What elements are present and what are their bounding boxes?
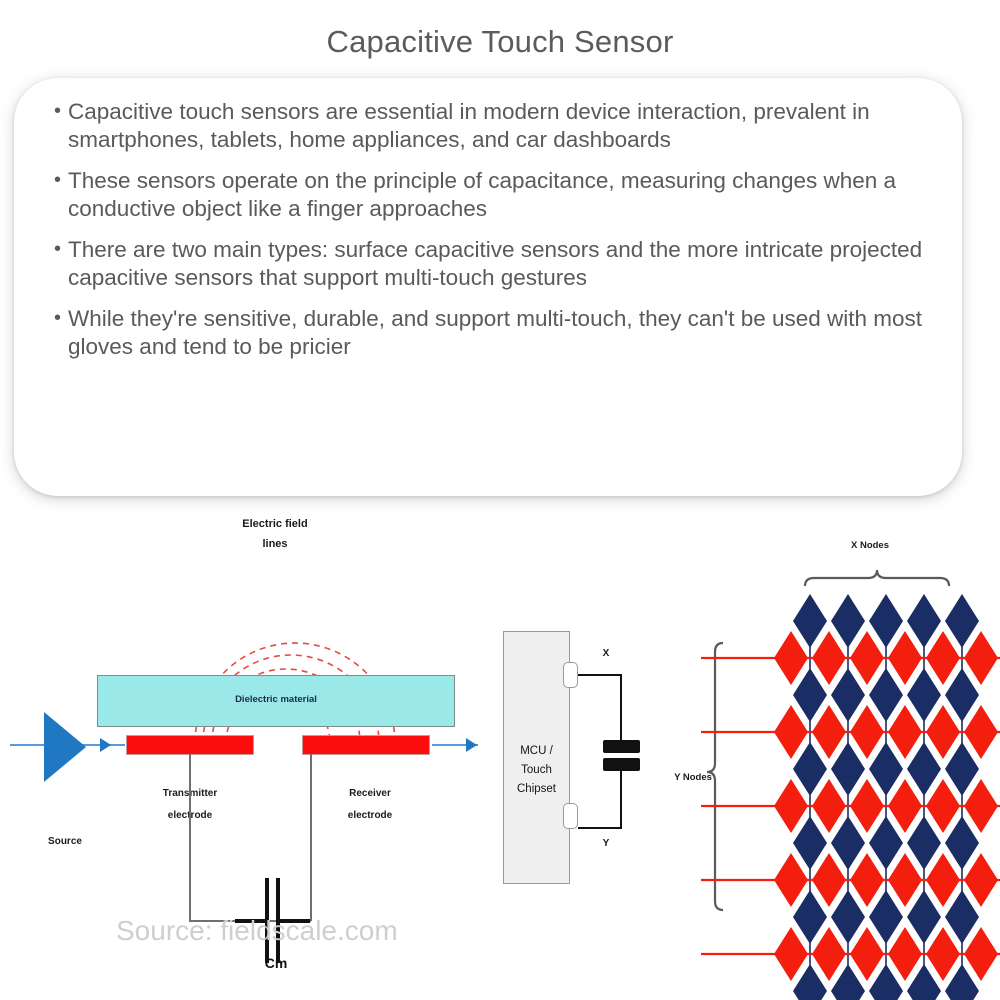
x-node-diamond xyxy=(831,816,865,870)
list-item: • Capacitive touch sensors are essential… xyxy=(54,98,992,153)
pin-y-terminal xyxy=(563,803,578,829)
mcu-label-line3: Chipset xyxy=(517,783,556,795)
y-node-diamond xyxy=(888,927,922,981)
y-node-diamond xyxy=(812,853,846,907)
bullet-text: There are two main types: surface capaci… xyxy=(68,236,973,291)
x-node-diamond xyxy=(907,816,941,870)
x-node-diamond xyxy=(831,742,865,796)
x-node-diamond xyxy=(907,668,941,722)
y-node-diamond xyxy=(850,631,884,685)
receiver-electrode-label: Receiver electrode xyxy=(315,783,425,827)
y-node-diamond xyxy=(926,779,960,833)
y-node-diamond xyxy=(888,779,922,833)
y-node-diamond xyxy=(812,927,846,981)
source-label: Source xyxy=(25,836,105,847)
y-node-diamond xyxy=(964,853,998,907)
mcu-touch-chipset-label: MCU / Touch Chipset xyxy=(503,742,570,799)
y-node-diamond xyxy=(774,853,808,907)
x-node-diamond xyxy=(869,742,903,796)
y-node-diamond xyxy=(774,779,808,833)
y-node-diamond xyxy=(812,705,846,759)
y-pin-label: Y xyxy=(591,838,621,849)
x-node-diamond xyxy=(793,668,827,722)
x-node-diamond xyxy=(831,668,865,722)
sensor-diagram: Electric field lines Dielectric material xyxy=(0,500,1000,1000)
x-node-diamond xyxy=(945,742,979,796)
receiver-label-line1: Receiver xyxy=(349,788,391,799)
pin-x-terminal xyxy=(563,662,578,688)
y-node-diamond xyxy=(888,705,922,759)
y-node-diamond xyxy=(964,927,998,981)
x-node-diamond xyxy=(793,594,827,648)
source-triangle-icon xyxy=(44,712,86,782)
arrow-right-icon xyxy=(466,738,477,752)
bullet-marker-icon: • xyxy=(54,236,61,263)
transmitter-electrode xyxy=(126,735,254,755)
bullet-text: These sensors operate on the principle o… xyxy=(68,167,973,222)
summary-card: • Capacitive touch sensors are essential… xyxy=(14,78,962,496)
wire-x-horizontal xyxy=(578,674,622,676)
x-node-diamond xyxy=(869,594,903,648)
capacitor-lead-right xyxy=(310,754,312,921)
receiver-label-line2: electrode xyxy=(348,810,392,821)
list-item: • While they're sensitive, durable, and … xyxy=(54,305,992,360)
y-node-diamond xyxy=(850,927,884,981)
wire-y-horizontal xyxy=(578,827,622,829)
bullet-marker-icon: • xyxy=(54,98,61,125)
page-root: Capacitive Touch Sensor • Capacitive tou… xyxy=(0,0,1000,1000)
x-node-diamond xyxy=(945,594,979,648)
mcu-capacitor-plate-top-icon xyxy=(603,740,640,753)
bullet-marker-icon: • xyxy=(54,167,61,194)
x-pin-label: X xyxy=(591,648,621,659)
mcu-label-line1: MCU / xyxy=(520,745,553,757)
list-item: • These sensors operate on the principle… xyxy=(54,167,992,222)
bullet-text: While they're sensitive, durable, and su… xyxy=(68,305,973,360)
x-node-diamond xyxy=(831,594,865,648)
wire-x-vertical xyxy=(620,674,622,746)
mcu-label-line2: Touch xyxy=(521,764,552,776)
y-node-diamond xyxy=(926,631,960,685)
y-node-diamond xyxy=(926,927,960,981)
bullet-list: • Capacitive touch sensors are essential… xyxy=(54,98,992,374)
x-node-diamond xyxy=(945,890,979,944)
x-node-diamond xyxy=(831,890,865,944)
source-watermark: Source: fieldscale.com xyxy=(116,915,386,947)
dielectric-material-label: Dielectric material xyxy=(97,694,455,705)
mcu-capacitor-plate-bottom-icon xyxy=(603,758,640,771)
mutual-capacitance-label: Cm xyxy=(236,955,316,971)
x-node-diamond xyxy=(907,742,941,796)
x-node-diamond xyxy=(869,890,903,944)
x-node-diamond xyxy=(869,816,903,870)
y-node-diamond xyxy=(888,631,922,685)
x-node-diamond xyxy=(793,816,827,870)
x-node-diamond xyxy=(907,594,941,648)
y-node-diamond xyxy=(774,631,808,685)
node-grid-group xyxy=(701,594,1000,1000)
y-node-diamond xyxy=(964,631,998,685)
y-node-diamond xyxy=(888,853,922,907)
x-node-diamond xyxy=(793,742,827,796)
y-node-diamond xyxy=(964,779,998,833)
y-node-diamond xyxy=(850,853,884,907)
capacitor-lead-left xyxy=(189,754,191,921)
y-node-diamond xyxy=(774,705,808,759)
y-node-diamond xyxy=(850,779,884,833)
bullet-marker-icon: • xyxy=(54,305,61,332)
bullet-text: Capacitive touch sensors are essential i… xyxy=(68,98,973,153)
node-grid-svg xyxy=(700,500,1000,1000)
x-node-diamond xyxy=(945,668,979,722)
arrow-right-icon xyxy=(100,738,111,752)
wire-y-vertical xyxy=(620,768,622,829)
page-title: Capacitive Touch Sensor xyxy=(0,24,1000,60)
y-node-diamond xyxy=(964,705,998,759)
y-node-diamond xyxy=(774,927,808,981)
list-item: • There are two main types: surface capa… xyxy=(54,236,992,291)
y-node-diamond xyxy=(926,705,960,759)
y-node-diamond xyxy=(812,779,846,833)
x-node-diamond xyxy=(869,668,903,722)
x-node-diamond xyxy=(907,890,941,944)
y-node-diamond xyxy=(850,705,884,759)
y-node-diamond xyxy=(926,853,960,907)
y-node-diamond xyxy=(812,631,846,685)
x-node-diamond xyxy=(945,816,979,870)
receiver-electrode xyxy=(302,735,430,755)
x-node-diamond xyxy=(793,890,827,944)
